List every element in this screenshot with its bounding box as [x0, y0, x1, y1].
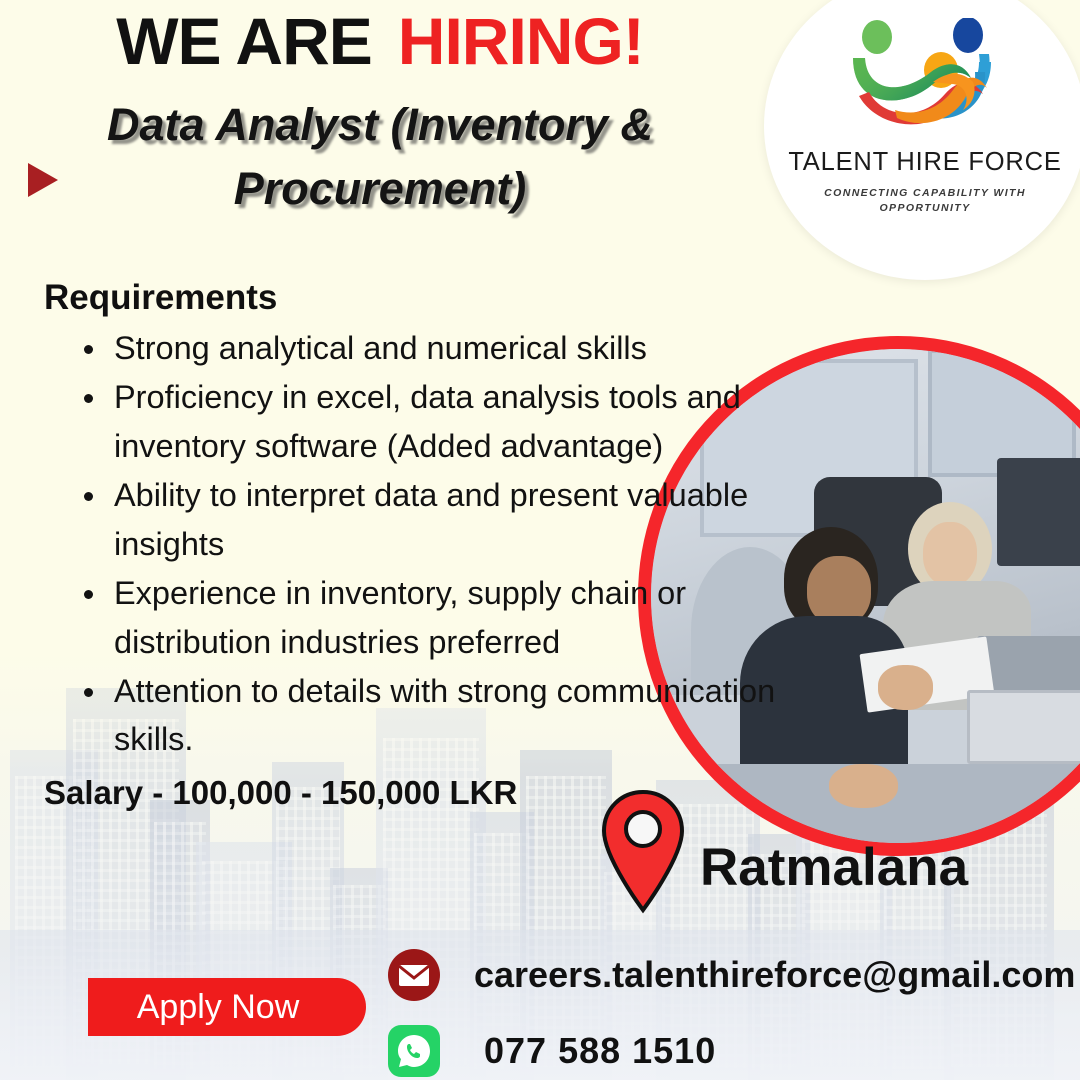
- apply-now-label: Apply Now: [137, 988, 300, 1027]
- we-are-text: WE ARE: [116, 4, 372, 78]
- headline: WE AREHIRING!: [0, 8, 760, 75]
- email-envelope-icon[interactable]: [386, 947, 442, 1003]
- location: Ratmalana: [600, 788, 968, 914]
- email-address[interactable]: careers.talenthireforce@gmail.com: [474, 954, 1075, 996]
- requirements-list: Strong analytical and numerical skills P…: [44, 324, 844, 764]
- requirements-section: Requirements Strong analytical and numer…: [44, 278, 844, 812]
- list-item: Ability to interpret data and present va…: [82, 471, 844, 568]
- hiring-text: HIRING!: [398, 4, 644, 78]
- whatsapp-icon[interactable]: [386, 1023, 442, 1079]
- list-item: Strong analytical and numerical skills: [82, 324, 844, 372]
- requirements-heading: Requirements: [44, 278, 844, 318]
- company-tagline: CONNECTING CAPABILITY WITH OPPORTUNITY: [810, 186, 1040, 216]
- contact-details: careers.talenthireforce@gmail.com 077 58…: [386, 944, 1075, 1080]
- whatsapp-contact[interactable]: 077 588 1510: [386, 1020, 1075, 1080]
- location-name: Ratmalana: [700, 837, 968, 898]
- list-item: Attention to details with strong communi…: [82, 667, 844, 764]
- list-item: Proficiency in excel, data analysis tool…: [82, 373, 844, 470]
- company-logo: TALENT HIRE FORCE CONNECTING CAPABILITY …: [764, 0, 1080, 280]
- company-name: TALENT HIRE FORCE: [788, 148, 1061, 177]
- apply-now-button[interactable]: Apply Now: [88, 978, 366, 1036]
- email-contact[interactable]: careers.talenthireforce@gmail.com: [386, 944, 1075, 1006]
- job-poster: WE AREHIRING! Data Analyst (Inventory & …: [0, 0, 1080, 1080]
- people-connection-logo-icon: [837, 18, 1013, 142]
- arrow-right-icon: [28, 163, 58, 197]
- phone-number[interactable]: 077 588 1510: [484, 1030, 716, 1072]
- job-title: Data Analyst (Inventory & Procurement): [70, 93, 690, 221]
- list-item: Experience in inventory, supply chain or…: [82, 569, 844, 666]
- header: WE AREHIRING! Data Analyst (Inventory & …: [0, 8, 760, 221]
- map-pin-icon: [600, 788, 686, 914]
